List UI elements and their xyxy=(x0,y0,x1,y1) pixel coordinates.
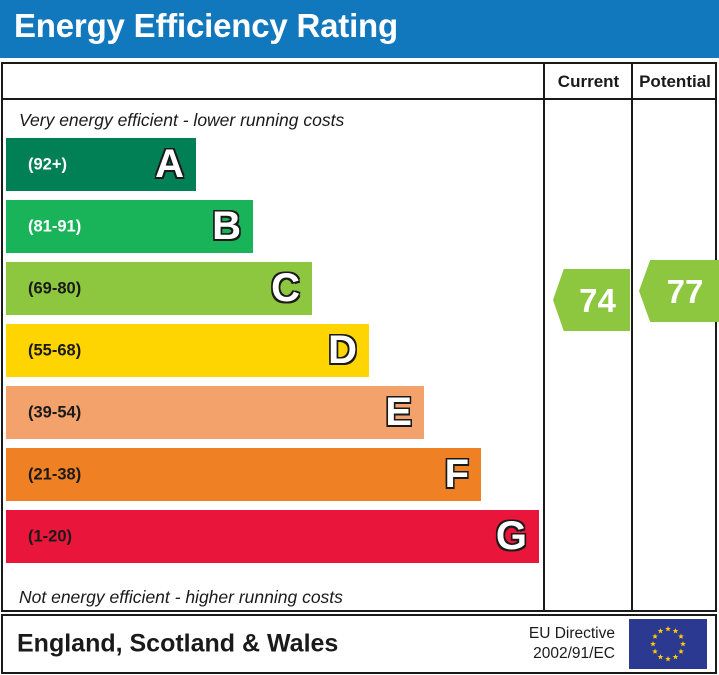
band-c: (69-80)C xyxy=(6,262,312,315)
footer-bar: England, Scotland & Wales EU Directive 2… xyxy=(1,614,717,674)
caption-very-efficient: Very energy efficient - lower running co… xyxy=(19,110,344,131)
column-header-current: Current xyxy=(545,64,632,100)
band-range-f: (21-38) xyxy=(28,465,81,484)
band-letter-b: B xyxy=(212,206,241,246)
band-range-a: (92+) xyxy=(28,155,67,174)
band-g: (1-20)G xyxy=(6,510,539,563)
band-range-b: (81-91) xyxy=(28,217,81,236)
page-title: Energy Efficiency Rating xyxy=(14,7,398,45)
band-a: (92+)A xyxy=(6,138,196,191)
column-divider-2 xyxy=(631,64,633,610)
energy-efficiency-rating-chart: Energy Efficiency Rating Current Potenti… xyxy=(0,0,719,675)
band-letter-a: A xyxy=(155,144,184,184)
caption-not-efficient: Not energy efficient - higher running co… xyxy=(19,587,343,608)
footer-region-label: England, Scotland & Wales xyxy=(17,630,338,659)
band-e: (39-54)E xyxy=(6,386,424,439)
current-rating-marker: 74 xyxy=(553,269,630,331)
band-range-d: (55-68) xyxy=(28,341,81,360)
band-range-e: (39-54) xyxy=(28,403,81,422)
band-letter-g: G xyxy=(496,516,527,556)
band-letter-e: E xyxy=(385,392,412,432)
band-b: (81-91)B xyxy=(6,200,253,253)
potential-rating-value: 77 xyxy=(655,275,704,308)
band-d: (55-68)D xyxy=(6,324,369,377)
band-letter-f: F xyxy=(445,454,469,494)
table-header-row: Current Potential xyxy=(3,64,715,100)
band-range-c: (69-80) xyxy=(28,279,81,298)
current-rating-value: 74 xyxy=(567,284,616,317)
directive-line-1: EU Directive xyxy=(529,624,615,644)
eu-flag-icon xyxy=(629,619,707,669)
directive-line-2: 2002/91/EC xyxy=(529,644,615,664)
band-list: (92+)A(81-91)B(69-80)C(55-68)D(39-54)E(2… xyxy=(3,138,543,580)
title-bar: Energy Efficiency Rating xyxy=(0,0,719,58)
band-letter-c: C xyxy=(271,268,300,308)
footer-directive-label: EU Directive 2002/91/EC xyxy=(529,624,615,664)
column-divider-1 xyxy=(543,64,545,610)
band-letter-d: D xyxy=(328,330,357,370)
band-f: (21-38)F xyxy=(6,448,481,501)
potential-rating-marker: 77 xyxy=(639,260,719,322)
rating-table: Current Potential Very energy efficient … xyxy=(1,62,717,612)
column-header-potential: Potential xyxy=(633,64,717,100)
band-range-g: (1-20) xyxy=(28,527,72,546)
